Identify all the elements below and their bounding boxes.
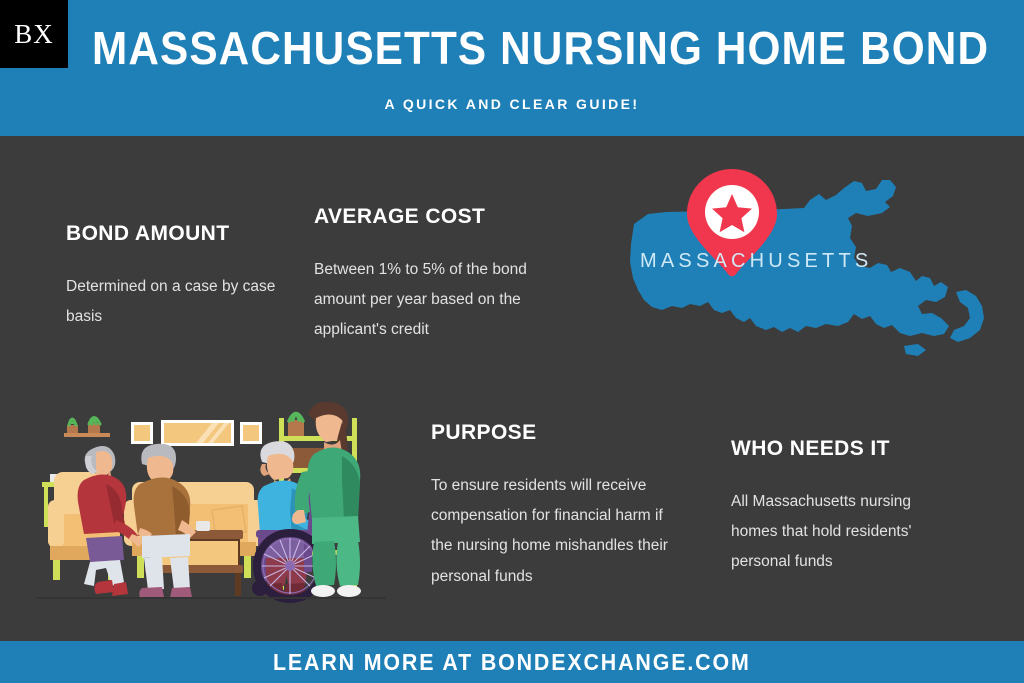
fact-block-bond-amount: BOND AMOUNT Determined on a case by case… xyxy=(66,222,306,332)
fact-body: Between 1% to 5% of the bond amount per … xyxy=(314,255,564,346)
fact-block-average-cost: AVERAGE COST Between 1% to 5% of the bon… xyxy=(314,205,564,346)
fact-heading: BOND AMOUNT xyxy=(66,222,306,246)
nursing-home-residents-illustration xyxy=(36,392,386,604)
fact-body: To ensure residents will receive compens… xyxy=(431,471,687,592)
footer-band: LEARN MORE AT BONDEXCHANGE.COM xyxy=(0,641,1024,683)
fact-block-purpose: PURPOSE To ensure residents will receive… xyxy=(431,421,687,592)
fact-heading: PURPOSE xyxy=(431,421,687,445)
map-state-label: MASSACHUSETTS xyxy=(640,250,872,273)
wall-picture-small-right xyxy=(240,422,262,444)
massachusetts-map: MASSACHUSETTS xyxy=(604,150,996,380)
infographic-page: BX MASSACHUSETTS NURSING HOME BOND A QUI… xyxy=(0,0,1024,683)
brand-logo-text: BX xyxy=(14,21,54,48)
wall-picture-large xyxy=(161,420,234,446)
fact-body: Determined on a case by case basis xyxy=(66,272,306,332)
wall-picture-small-left xyxy=(131,422,153,444)
fact-body: All Massachusetts nursing homes that hol… xyxy=(731,487,961,578)
header-band: BX MASSACHUSETTS NURSING HOME BOND A QUI… xyxy=(0,0,1024,136)
footer-cta-text: LEARN MORE AT BONDEXCHANGE.COM xyxy=(273,649,751,676)
brand-logo: BX xyxy=(0,0,68,68)
fact-heading: AVERAGE COST xyxy=(314,205,564,229)
fact-block-who-needs-it: WHO NEEDS IT All Massachusetts nursing h… xyxy=(731,437,961,578)
page-title: MASSACHUSETTS NURSING HOME BOND xyxy=(92,24,911,74)
wall-shelf-left xyxy=(64,418,110,438)
fact-heading: WHO NEEDS IT xyxy=(731,437,961,461)
page-subtitle: A QUICK AND CLEAR GUIDE! xyxy=(0,96,1024,112)
